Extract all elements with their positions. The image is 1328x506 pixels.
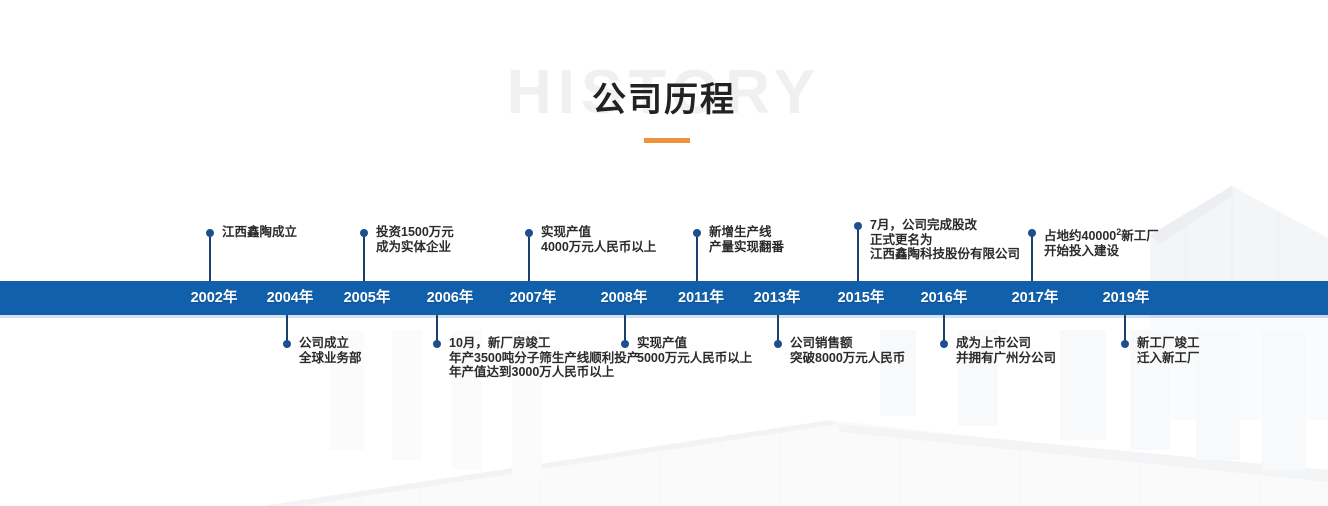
- milestone-stem-2017年: [1031, 232, 1033, 281]
- milestone-label-2015年: 7月，公司完成股改正式更名为江西鑫陶科技股份有限公司: [870, 218, 1020, 262]
- milestone-stem-2016年: [943, 315, 945, 343]
- milestone-label-line: 公司销售额: [790, 336, 905, 351]
- timeline-year-2005年[interactable]: 2005年: [344, 281, 391, 315]
- milestone-label-2004年: 公司成立全球业务部: [299, 336, 362, 365]
- milestone-label-line: 并拥有广州分公司: [956, 351, 1056, 366]
- milestone-dot-2017年[interactable]: [1028, 229, 1036, 237]
- timeline-year-2017年[interactable]: 2017年: [1012, 281, 1059, 315]
- milestone-label-2011年: 新增生产线产量实现翻番: [709, 225, 784, 254]
- milestone-label-line: 投资1500万元: [376, 225, 454, 240]
- timeline-year-2016年[interactable]: 2016年: [921, 281, 968, 315]
- timeline-year-2008年[interactable]: 2008年: [601, 281, 648, 315]
- milestone-label-2008年: 实现产值5000万元人民币以上: [637, 336, 752, 365]
- timeline-year-2002年[interactable]: 2002年: [191, 281, 238, 315]
- milestone-label-line: 江西鑫陶成立: [222, 225, 297, 240]
- milestone-label-line: 4000万元人民币以上: [541, 240, 656, 255]
- milestone-label-line: 年产3500吨分子筛生产线顺利投产: [449, 351, 639, 366]
- milestone-label-2019年: 新工厂竣工迁入新工厂: [1137, 336, 1200, 365]
- milestone-stem-2019年: [1124, 315, 1126, 343]
- milestone-stem-2015年: [857, 225, 859, 281]
- milestone-stem-2006年: [436, 315, 438, 343]
- timeline-year-2015年[interactable]: 2015年: [838, 281, 885, 315]
- milestone-label-line: 成为上市公司: [956, 336, 1056, 351]
- milestone-dot-2013年[interactable]: [774, 340, 782, 348]
- milestone-label-line: 成为实体企业: [376, 240, 454, 255]
- milestone-label-line: 新工厂竣工: [1137, 336, 1200, 351]
- title-underline: [644, 138, 690, 143]
- timeline-bar-shadow: [0, 315, 1328, 318]
- milestone-dot-2006年[interactable]: [433, 340, 441, 348]
- milestone-label-line: 产量实现翻番: [709, 240, 784, 255]
- milestone-dot-2019年[interactable]: [1121, 340, 1129, 348]
- milestone-label-2016年: 成为上市公司并拥有广州分公司: [956, 336, 1056, 365]
- milestone-stem-2008年: [624, 315, 626, 343]
- milestone-label-line: 新增生产线: [709, 225, 784, 240]
- milestone-label-line: 5000万元人民币以上: [637, 351, 752, 366]
- milestone-stem-2013年: [777, 315, 779, 343]
- timeline-year-2011年[interactable]: 2011年: [678, 281, 724, 315]
- milestone-label-line: 占地约400002新工厂: [1044, 225, 1159, 244]
- milestone-label-line: 迁入新工厂: [1137, 351, 1200, 366]
- milestone-label-2017年: 占地约400002新工厂开始投入建设: [1044, 225, 1159, 258]
- milestone-dot-2011年[interactable]: [693, 229, 701, 237]
- milestone-label-line: 全球业务部: [299, 351, 362, 366]
- milestone-label-line: 10月，新厂房竣工: [449, 336, 639, 351]
- milestone-dot-2008年[interactable]: [621, 340, 629, 348]
- history-timeline-page: HISTORY 公司历程 2002年2004年2005年2006年2007年20…: [0, 0, 1328, 506]
- milestone-stem-2004年: [286, 315, 288, 343]
- milestone-label-line: 实现产值: [637, 336, 752, 351]
- milestone-dot-2015年[interactable]: [854, 222, 862, 230]
- milestone-label-line: 开始投入建设: [1044, 244, 1159, 259]
- timeline-year-2019年[interactable]: 2019年: [1103, 281, 1150, 315]
- milestone-label-2007年: 实现产值4000万元人民币以上: [541, 225, 656, 254]
- milestone-dot-2016年[interactable]: [940, 340, 948, 348]
- timeline-year-2013年[interactable]: 2013年: [754, 281, 801, 315]
- page-title: 公司历程: [0, 78, 1328, 122]
- milestone-label-line: 突破8000万元人民币: [790, 351, 905, 366]
- timeline-year-2004年[interactable]: 2004年: [267, 281, 314, 315]
- milestone-label-line: 公司成立: [299, 336, 362, 351]
- page-header: HISTORY 公司历程: [0, 56, 1328, 166]
- milestone-dot-2004年[interactable]: [283, 340, 291, 348]
- milestone-label-2002年: 江西鑫陶成立: [222, 225, 297, 240]
- milestone-stem-2002年: [209, 232, 211, 281]
- milestone-label-line: 实现产值: [541, 225, 656, 240]
- timeline-year-2006年[interactable]: 2006年: [427, 281, 474, 315]
- milestone-label-2013年: 公司销售额突破8000万元人民币: [790, 336, 905, 365]
- timeline-year-2007年[interactable]: 2007年: [510, 281, 557, 315]
- milestone-dot-2007年[interactable]: [525, 229, 533, 237]
- milestone-stem-2005年: [363, 232, 365, 281]
- milestone-label-2005年: 投资1500万元成为实体企业: [376, 225, 454, 254]
- milestone-label-line: 年产值达到3000万人民币以上: [449, 365, 639, 380]
- milestone-label-line: 7月，公司完成股改: [870, 218, 1020, 233]
- milestone-stem-2007年: [528, 232, 530, 281]
- milestone-dot-2005年[interactable]: [360, 229, 368, 237]
- milestone-stem-2011年: [696, 232, 698, 281]
- milestone-label-2006年: 10月，新厂房竣工年产3500吨分子筛生产线顺利投产年产值达到3000万人民币以…: [449, 336, 639, 380]
- milestone-dot-2002年[interactable]: [206, 229, 214, 237]
- milestone-label-line: 正式更名为: [870, 233, 1020, 248]
- milestone-label-line: 江西鑫陶科技股份有限公司: [870, 247, 1020, 262]
